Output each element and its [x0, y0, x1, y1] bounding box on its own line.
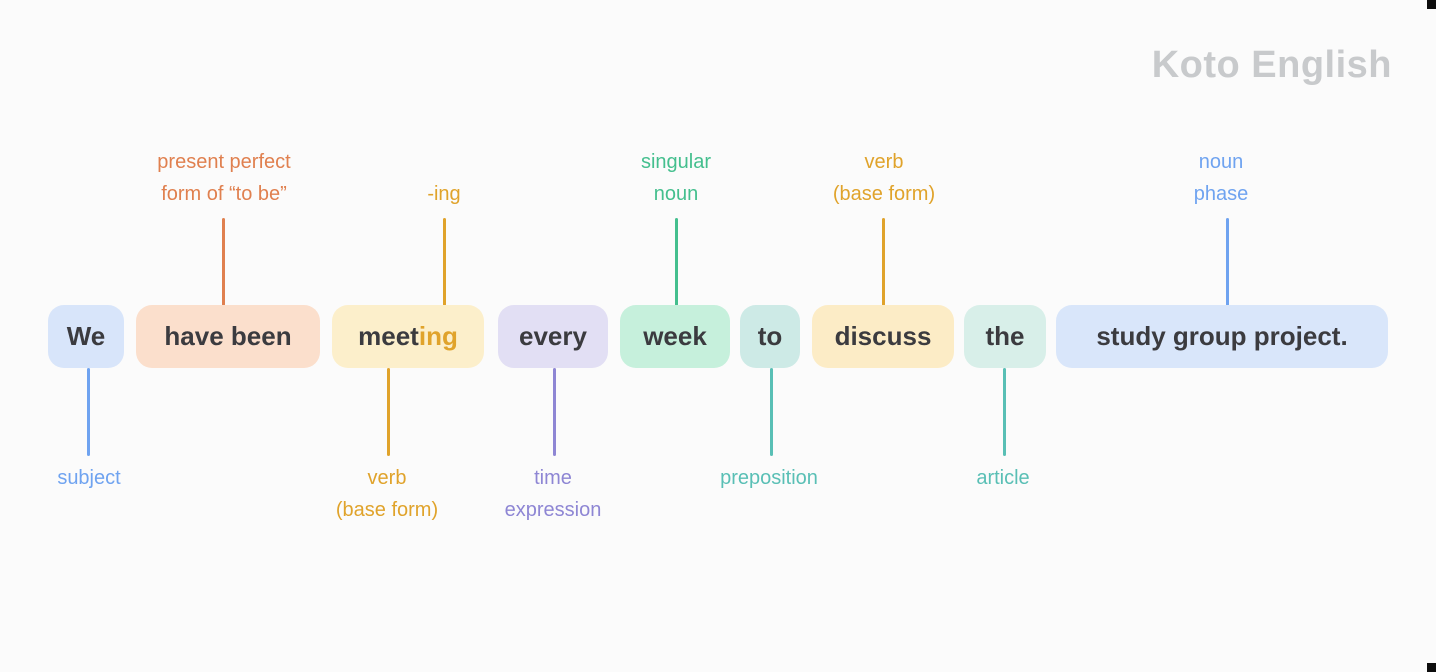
connector-line [1003, 368, 1006, 456]
annotation-line: phase [1194, 178, 1249, 210]
annotation-label-verb-base-form-top: verb(base form) [833, 146, 935, 210]
sentence-chip: study group project. [1056, 305, 1388, 368]
annotation-line: preposition [720, 462, 818, 494]
annotation-label-singular-noun: singularnoun [641, 146, 711, 210]
sentence-chip: every [498, 305, 608, 368]
annotation-line: form of “to be” [157, 178, 290, 210]
annotation-line: time [505, 462, 602, 494]
connector-line [87, 368, 90, 456]
sentence-chip: We [48, 305, 124, 368]
connector-line [675, 218, 678, 306]
annotation-label-noun-phase: nounphase [1194, 146, 1249, 210]
annotation-line: verb [833, 146, 935, 178]
annotation-label-ing-suffix: -ing [427, 178, 460, 210]
corner-artifact-bottom-right [1427, 663, 1436, 672]
annotation-line: article [976, 462, 1029, 494]
annotation-line: singular [641, 146, 711, 178]
annotation-line: present perfect [157, 146, 290, 178]
chip-stem: meet [358, 321, 419, 352]
sentence-chip: discuss [812, 305, 954, 368]
annotation-line: -ing [427, 178, 460, 210]
sentence-chip: the [964, 305, 1046, 368]
annotation-label-verb-base-form-bottom: verb(base form) [336, 462, 438, 526]
annotation-line: verb [336, 462, 438, 494]
connector-line [882, 218, 885, 306]
connector-line [1226, 218, 1229, 306]
annotation-label-subject: subject [57, 462, 120, 494]
connector-line [387, 368, 390, 456]
annotation-label-article: article [976, 462, 1029, 494]
connector-line [553, 368, 556, 456]
sentence-strip: Wehave beenmeetingeveryweektodiscussthes… [0, 305, 1436, 368]
sentence-chip: have been [136, 305, 320, 368]
annotation-label-time-expression: timeexpression [505, 462, 602, 526]
annotation-line: expression [505, 494, 602, 526]
sentence-chip: meeting [332, 305, 484, 368]
annotation-line: noun [1194, 146, 1249, 178]
annotation-line: subject [57, 462, 120, 494]
sentence-chip: to [740, 305, 800, 368]
annotation-label-preposition: preposition [720, 462, 818, 494]
corner-artifact-top-right [1427, 0, 1436, 9]
annotation-label-present-perfect: present perfectform of “to be” [157, 146, 290, 210]
annotation-line: (base form) [833, 178, 935, 210]
connector-line [443, 218, 446, 306]
connector-line [770, 368, 773, 456]
chip-suffix-highlight: ing [419, 321, 458, 352]
connector-line [222, 218, 225, 306]
brand-watermark: Koto English [1152, 44, 1392, 87]
diagram-canvas: Koto English Wehave beenmeetingeveryweek… [0, 0, 1436, 672]
sentence-chip: week [620, 305, 730, 368]
annotation-line: noun [641, 178, 711, 210]
annotation-line: (base form) [336, 494, 438, 526]
